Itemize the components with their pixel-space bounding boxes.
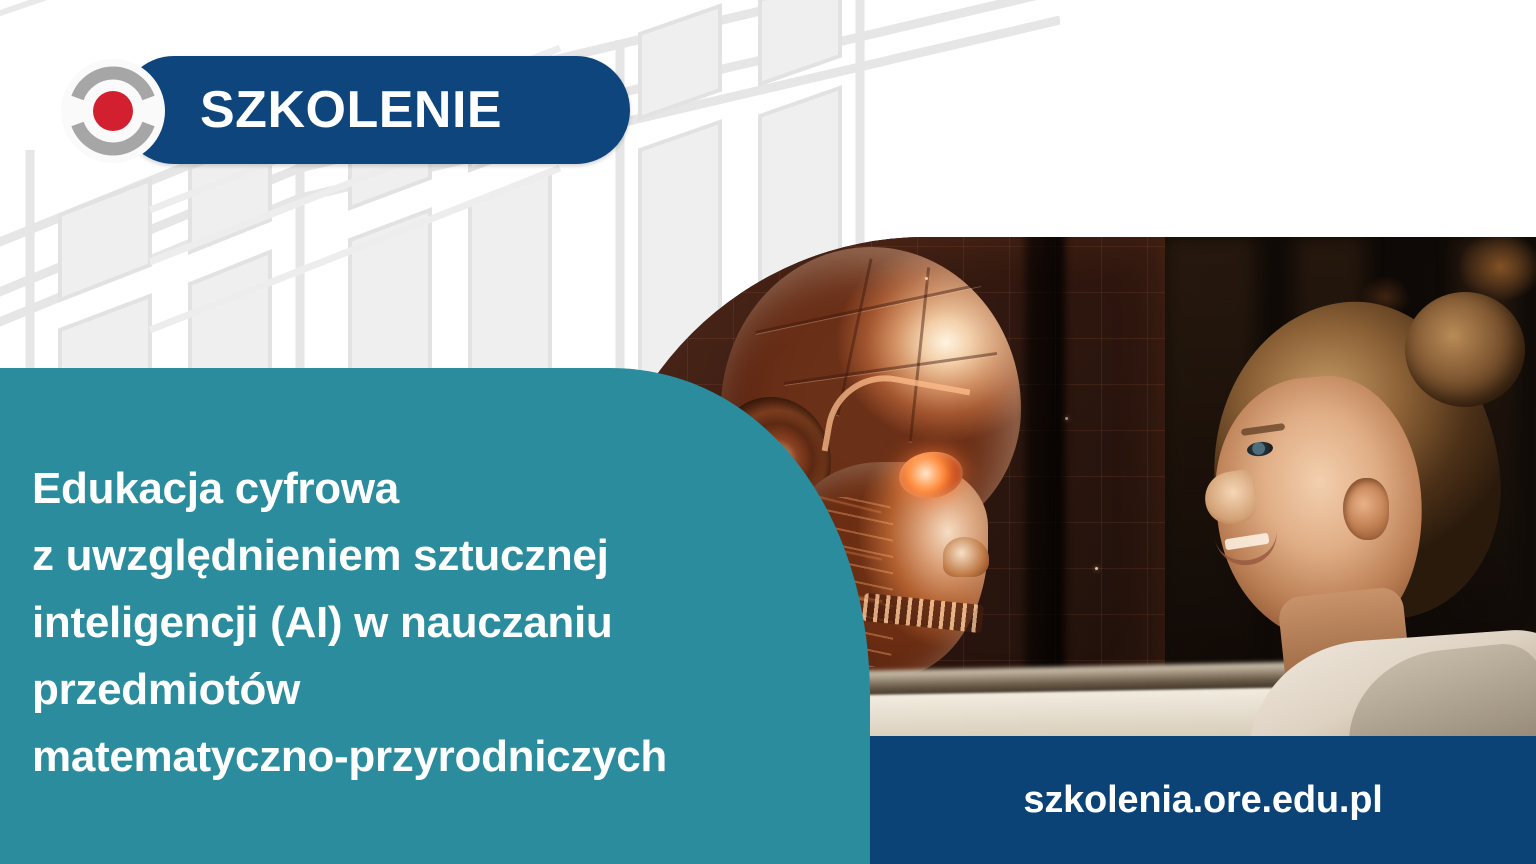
title-line-3: inteligencji (AI) w nauczaniu xyxy=(32,589,832,656)
light-spark xyxy=(655,307,658,310)
screen-bezel xyxy=(1025,237,1065,727)
light-spark xyxy=(1065,417,1068,420)
poster-title: Edukacja cyfrowa z uwzględnieniem sztucz… xyxy=(32,455,832,790)
website-url[interactable]: szkolenia.ore.edu.pl xyxy=(1023,779,1382,822)
title-line-1: Edukacja cyfrowa xyxy=(32,455,832,522)
badge-pill: SZKOLENIE xyxy=(120,56,630,164)
robot-nose xyxy=(943,537,989,577)
title-line-4: przedmiotów xyxy=(32,656,832,723)
footer-bar: szkolenia.ore.edu.pl xyxy=(870,736,1536,864)
badge-label: SZKOLENIE xyxy=(200,80,502,140)
training-poster: szkolenia.ore.edu.pl SZKOLENIE Edukacja … xyxy=(0,0,1536,864)
girl-ear xyxy=(1343,478,1389,540)
light-spark xyxy=(925,277,928,280)
girl-hair-bun xyxy=(1405,292,1525,407)
ore-target-logo-icon xyxy=(60,58,166,164)
light-spark xyxy=(1095,567,1098,570)
title-line-2: z uwzględnieniem sztucznej xyxy=(32,522,832,589)
title-line-5: matematyczno-przyrodniczych xyxy=(32,723,832,790)
